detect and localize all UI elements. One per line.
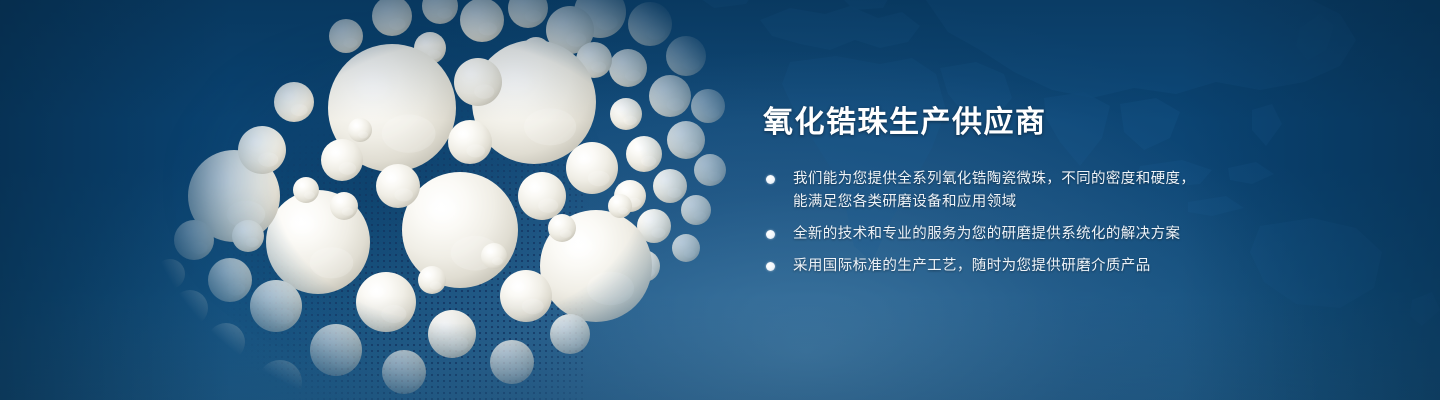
feature-list: 我们能为您提供全系列氧化锆陶瓷微珠，不同的密度和硬度， 能满足您各类研磨设备和应… xyxy=(763,168,1383,278)
bullet-dot-icon xyxy=(766,230,775,239)
bullet-line: 能满足您各类研磨设备和应用领域 xyxy=(793,191,1383,214)
promo-banner: 氧化锆珠生产供应商 我们能为您提供全系列氧化锆陶瓷微珠，不同的密度和硬度， 能满… xyxy=(0,0,1440,400)
bullet-line: 采用国际标准的生产工艺，随时为您提供研磨介质产品 xyxy=(793,255,1383,278)
banner-text-block: 氧化锆珠生产供应商 我们能为您提供全系列氧化锆陶瓷微珠，不同的密度和硬度， 能满… xyxy=(763,104,1383,278)
list-item: 采用国际标准的生产工艺，随时为您提供研磨介质产品 xyxy=(763,255,1383,278)
bullet-dot-icon xyxy=(766,262,775,271)
list-item: 全新的技术和专业的服务为您的研磨提供系统化的解决方案 xyxy=(763,223,1383,246)
list-item: 我们能为您提供全系列氧化锆陶瓷微珠，不同的密度和硬度， 能满足您各类研磨设备和应… xyxy=(763,168,1383,214)
bullet-line: 全新的技术和专业的服务为您的研磨提供系统化的解决方案 xyxy=(793,223,1383,246)
zirconia-beads-image xyxy=(130,0,740,400)
banner-title: 氧化锆珠生产供应商 xyxy=(763,104,1383,142)
bullet-dot-icon xyxy=(766,175,775,184)
bullet-line: 我们能为您提供全系列氧化锆陶瓷微珠，不同的密度和硬度， xyxy=(793,168,1383,191)
